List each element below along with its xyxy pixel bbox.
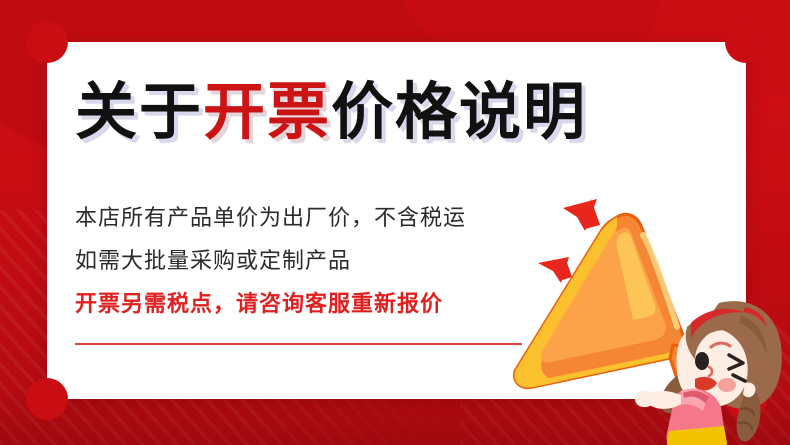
notice-body: 本店所有产品单价为出厂价，不含税运 如需大批量采购或定制产品 开票另需税点，请咨…	[75, 196, 466, 325]
card-notch-top-right	[725, 21, 767, 63]
title-segment-suffix: 价格说明	[331, 78, 587, 147]
card-notch-top-left	[26, 21, 68, 63]
girl-with-megaphone-illustration	[505, 195, 790, 445]
banner-stage: 关于开票价格说明 本店所有产品单价为出厂价，不含税运 如需大批量采购或定制产品 …	[0, 0, 790, 445]
card-notch-bottom-left	[26, 378, 68, 420]
page-title: 关于开票价格说明	[75, 82, 587, 144]
notice-line-1: 本店所有产品单价为出厂价，不含税运	[75, 196, 466, 239]
emphasis-underline	[75, 343, 522, 345]
notice-line-2: 如需大批量采购或定制产品	[75, 239, 466, 282]
title-segment-prefix: 关于	[75, 78, 203, 147]
title-segment-highlight: 开票	[203, 78, 331, 147]
notice-line-3-emphasis: 开票另需税点，请咨询客服重新报价	[75, 282, 466, 325]
